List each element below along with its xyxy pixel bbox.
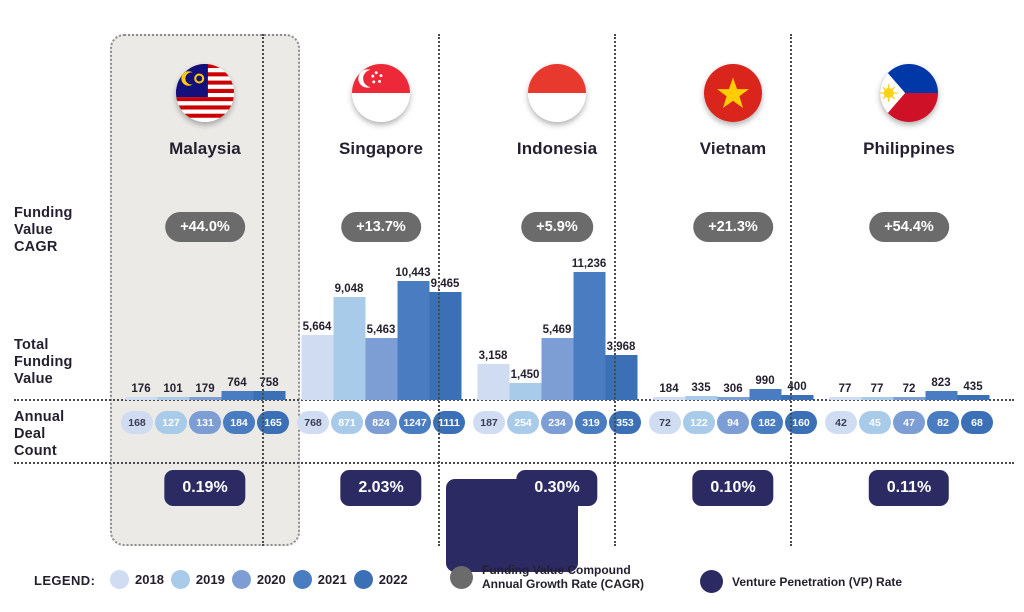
- bar-rect: [573, 272, 605, 400]
- bar-value-label: 5,664: [303, 321, 332, 333]
- bar-2020: 306: [717, 230, 749, 400]
- bar-value-label: 9,048: [335, 283, 364, 295]
- legend-cagr: Funding Value CompoundAnnual Growth Rate…: [450, 563, 644, 591]
- deal-count-pill: 1247: [399, 411, 431, 434]
- bar-2018: 77: [829, 230, 861, 400]
- bar-rect: [333, 297, 365, 400]
- bar-value-label: 77: [839, 383, 852, 395]
- bar-rect: [365, 338, 397, 400]
- funding-bar-chart: 184335306990400: [638, 230, 828, 400]
- country-name: Indonesia: [462, 139, 652, 159]
- legend-year-dot-icon: [232, 570, 251, 589]
- bar-2020: 72: [893, 230, 925, 400]
- bar-2021: 11,236: [573, 230, 605, 400]
- bar-2021: 764: [221, 230, 253, 400]
- country-column-malaysia: Malaysia+44.0%17610117976475816812713118…: [110, 34, 300, 546]
- bar-2019: 101: [157, 230, 189, 400]
- bar-value-label: 5,469: [543, 324, 572, 336]
- funding-bar-chart: 3,1581,4505,46911,2363,968: [462, 230, 652, 400]
- legend-vp: Venture Penetration (VP) Rate: [700, 570, 902, 593]
- bar-rect: [477, 364, 509, 400]
- funding-bar-chart: 176101179764758: [110, 230, 300, 400]
- bar-value-label: 3,968: [607, 341, 636, 353]
- vp-rate-badge: 2.03%: [340, 470, 421, 506]
- bar-value-label: 9,465: [431, 278, 460, 290]
- legend-year-label: 2019: [196, 572, 225, 587]
- legend-year-dot-icon: [171, 570, 190, 589]
- column-separator: [614, 34, 616, 546]
- row-label-funding-cagr: FundingValueCAGR: [14, 205, 110, 256]
- row-label-annual-deal-count: AnnualDealCount: [14, 409, 110, 460]
- legend-year-2019: 2019: [171, 570, 225, 589]
- bar-rect: [189, 397, 221, 400]
- bar-value-label: 823: [931, 377, 950, 389]
- bar-2020: 5,463: [365, 230, 397, 400]
- legend-year-label: 2021: [318, 572, 347, 587]
- bar-value-label: 10,443: [395, 267, 430, 279]
- malaysia-flag: [176, 64, 234, 122]
- legend-year-label: 2018: [135, 572, 164, 587]
- bar-2019: 1,450: [509, 230, 541, 400]
- bar-rect: [397, 281, 429, 400]
- bar-rect: [781, 395, 813, 400]
- bar-2022: 9,465: [429, 230, 461, 400]
- bar-rect: [957, 395, 989, 400]
- vp-rate-badge: 0.19%: [164, 470, 245, 506]
- bar-rect: [125, 397, 157, 400]
- bar-value-label: 77: [871, 383, 884, 395]
- bar-2018: 184: [653, 230, 685, 400]
- annual-deal-count-row: 4245478268: [824, 411, 994, 434]
- bar-value-label: 306: [723, 383, 742, 395]
- vp-legend-dot-icon: [700, 570, 723, 593]
- annual-deal-count-row: 168127131184165: [120, 411, 290, 434]
- philippines-flag: [880, 64, 938, 122]
- deal-count-pill: 168: [121, 411, 153, 434]
- legend-year-label: 2020: [257, 572, 286, 587]
- bar-value-label: 764: [227, 377, 246, 389]
- bar-value-label: 176: [131, 383, 150, 395]
- bar-rect: [925, 391, 957, 400]
- bar-rect: [829, 397, 861, 400]
- country-column-vietnam: Vietnam+21.3%184335306990400721229418216…: [638, 34, 828, 546]
- legend-year-label: 2022: [379, 572, 408, 587]
- deal-count-pill: 42: [825, 411, 857, 434]
- bar-2018: 5,664: [301, 230, 333, 400]
- bar-2019: 9,048: [333, 230, 365, 400]
- cagr-legend-dot-icon: [450, 566, 473, 589]
- column-separator: [262, 34, 264, 546]
- bar-rect: [749, 389, 781, 400]
- bar-rect: [893, 397, 925, 400]
- deal-count-pill: 82: [927, 411, 959, 434]
- bar-rect: [221, 391, 253, 400]
- deal-count-pill: 72: [649, 411, 681, 434]
- bar-2020: 179: [189, 230, 221, 400]
- country-column-indonesia: Indonesia+5.9%3,1581,4505,46911,2363,968…: [462, 34, 652, 546]
- bar-rect: [509, 383, 541, 400]
- bar-2021: 990: [749, 230, 781, 400]
- legend-year-dot-icon: [110, 570, 129, 589]
- deal-count-pill: 187: [473, 411, 505, 434]
- bar-2018: 3,158: [477, 230, 509, 400]
- singapore-flag: [352, 64, 410, 122]
- country-name: Vietnam: [638, 139, 828, 159]
- bar-rect: [541, 338, 573, 400]
- bar-2019: 77: [861, 230, 893, 400]
- bar-2022: 758: [253, 230, 285, 400]
- bar-value-label: 335: [691, 382, 710, 394]
- deal-count-pill: 182: [751, 411, 783, 434]
- vietnam-flag: [704, 64, 762, 122]
- bar-value-label: 184: [659, 383, 678, 395]
- deal-count-pill: 768: [297, 411, 329, 434]
- vp-rate-badge: 0.11%: [869, 470, 949, 506]
- legend-year-dot-icon: [354, 570, 373, 589]
- bar-value-label: 990: [755, 375, 774, 387]
- column-separator: [438, 34, 440, 546]
- deal-count-pill: 254: [507, 411, 539, 434]
- deal-count-pill: 184: [223, 411, 255, 434]
- bar-rect: [253, 391, 285, 400]
- deal-count-pill: 824: [365, 411, 397, 434]
- bar-2018: 176: [125, 230, 157, 400]
- legend-year-dot-icon: [293, 570, 312, 589]
- bar-value-label: 3,158: [479, 350, 508, 362]
- legend-year-2018: 2018: [110, 570, 164, 589]
- bar-rect: [653, 397, 685, 400]
- bar-value-label: 5,463: [367, 324, 396, 336]
- vp-rate-badge: 0.30%: [516, 470, 597, 506]
- legend-vp-label: Venture Penetration (VP) Rate: [732, 575, 902, 589]
- deal-count-pill: 68: [961, 411, 993, 434]
- legend-year-2020: 2020: [232, 570, 286, 589]
- legend-year-2022: 2022: [354, 570, 408, 589]
- country-name: Malaysia: [110, 139, 300, 159]
- annual-deal-count-row: 7212294182160: [648, 411, 818, 434]
- legend-title: LEGEND:: [34, 573, 95, 588]
- bar-2019: 335: [685, 230, 717, 400]
- country-name: Singapore: [286, 139, 476, 159]
- deal-count-pill: 122: [683, 411, 715, 434]
- legend-year-2021: 2021: [293, 570, 347, 589]
- bar-rect: [861, 397, 893, 400]
- legend-cagr-label: Funding Value CompoundAnnual Growth Rate…: [482, 563, 644, 591]
- column-separator: [790, 34, 792, 546]
- bar-2022: 435: [957, 230, 989, 400]
- annual-deal-count-row: 76887182412471111: [296, 411, 466, 434]
- funding-bar-chart: 777772823435: [814, 230, 1004, 400]
- row-label-total-funding-value: TotalFundingValue: [14, 337, 110, 388]
- indonesia-flag: [528, 64, 586, 122]
- bar-value-label: 1,450: [511, 369, 540, 381]
- bar-2022: 3,968: [605, 230, 637, 400]
- deal-count-pill: 127: [155, 411, 187, 434]
- deal-count-pill: 131: [189, 411, 221, 434]
- bar-2020: 5,469: [541, 230, 573, 400]
- country-column-philippines: Philippines+54.4%77777282343542454782680…: [814, 34, 1004, 546]
- annual-deal-count-row: 187254234319353: [472, 411, 642, 434]
- bar-value-label: 101: [163, 383, 182, 395]
- bar-value-label: 435: [963, 381, 982, 393]
- deal-count-pill: 319: [575, 411, 607, 434]
- bar-rect: [605, 355, 637, 400]
- deal-count-pill: 871: [331, 411, 363, 434]
- bar-rect: [717, 397, 749, 400]
- deal-count-pill: 47: [893, 411, 925, 434]
- bar-value-label: 11,236: [572, 258, 607, 270]
- deal-count-pill: 94: [717, 411, 749, 434]
- bar-value-label: 72: [903, 383, 916, 395]
- infographic-root: FundingValueCAGR TotalFundingValue Annua…: [0, 0, 1024, 612]
- bar-2021: 823: [925, 230, 957, 400]
- bar-2022: 400: [781, 230, 813, 400]
- country-column-singapore: Singapore+13.7%5,6649,0485,46310,4439,46…: [286, 34, 476, 546]
- country-name: Philippines: [814, 139, 1004, 159]
- bar-rect: [301, 335, 333, 400]
- legend: LEGEND: 20182019202020212022 Funding Val…: [0, 558, 1024, 606]
- vp-rate-badge: 0.10%: [692, 470, 773, 506]
- bar-value-label: 179: [195, 383, 214, 395]
- bar-2021: 10,443: [397, 230, 429, 400]
- bar-rect: [429, 292, 461, 400]
- funding-bar-chart: 5,6649,0485,46310,4439,465: [286, 230, 476, 400]
- deal-count-pill: 234: [541, 411, 573, 434]
- legend-year-list: 20182019202020212022: [110, 570, 408, 589]
- bar-rect: [685, 396, 717, 400]
- bar-rect: [157, 397, 189, 400]
- deal-count-pill: 45: [859, 411, 891, 434]
